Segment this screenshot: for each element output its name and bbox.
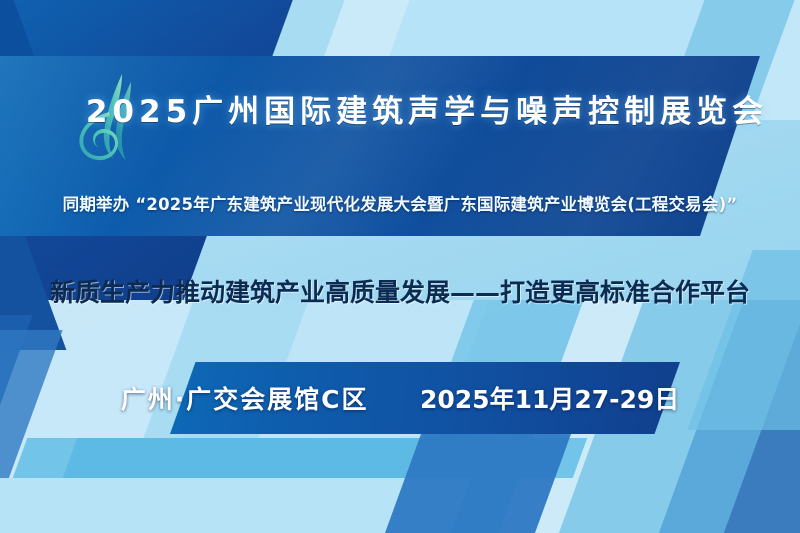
- date-label: 2025年11月27-29日: [420, 385, 679, 414]
- venue-date-text: 广州·广交会展馆C区 2025年11月27-29日: [0, 380, 800, 416]
- venue-label: 广州·广交会展馆C区: [121, 385, 369, 414]
- page-title: 2025广州国际建筑声学与噪声控制展览会: [0, 86, 800, 131]
- subtitle-concurrent-events: 同期举办 “2025年广东建筑产业现代化发展大会暨广东国际建筑产业博览会(工程交…: [0, 191, 800, 215]
- theme-slogan: 新质生产力推动建筑产业高质量发展——打造更高标准合作平台: [0, 273, 800, 309]
- exhibition-poster: 2025广州国际建筑声学与噪声控制展览会 同期举办 “2025年广东建筑产业现代…: [0, 0, 800, 533]
